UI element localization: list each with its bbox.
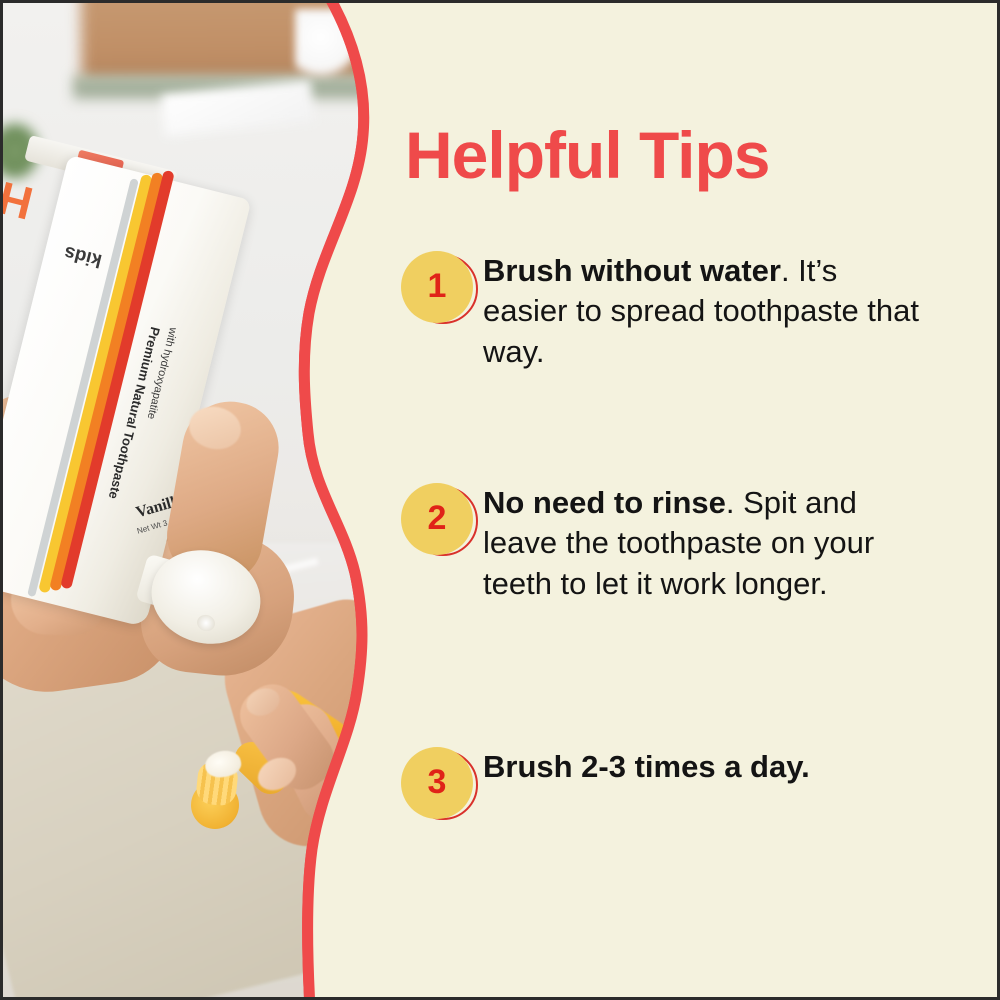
tip-lead-3: Brush 2-3 times a day.	[483, 749, 810, 784]
product-photo: HappyTooth kids Premium Natural Toothpas…	[3, 3, 375, 997]
tip-text-1: Brush without water. It’s easier to spre…	[483, 249, 919, 372]
tip-badge-3: 3	[399, 745, 483, 825]
badge-number: 3	[428, 765, 447, 799]
badge-number: 2	[428, 501, 447, 535]
tips-content: Helpful Tips 1 Brush without water. It’s…	[391, 3, 991, 1000]
badge-disc: 2	[401, 483, 473, 555]
helpful-tips-infographic: HappyTooth kids Premium Natural Toothpas…	[0, 0, 1000, 1000]
tip-item-3: 3 Brush 2-3 times a day.	[399, 745, 919, 825]
tip-badge-2: 2	[399, 481, 483, 561]
tip-text-2: No need to rinse. Spit and leave the too…	[483, 481, 919, 604]
page-title: Helpful Tips	[405, 117, 769, 193]
tip-text-3: Brush 2-3 times a day.	[483, 745, 919, 787]
badge-disc: 1	[401, 251, 473, 323]
background-white-object	[295, 9, 359, 79]
tip-lead-2: No need to rinse	[483, 485, 726, 520]
tip-item-2: 2 No need to rinse. Spit and leave the t…	[399, 481, 919, 604]
badge-number: 1	[428, 269, 447, 303]
tip-lead-1: Brush without water	[483, 253, 781, 288]
tip-badge-1: 1	[399, 249, 483, 329]
tip-item-1: 1 Brush without water. It’s easier to sp…	[399, 249, 919, 372]
badge-disc: 3	[401, 747, 473, 819]
